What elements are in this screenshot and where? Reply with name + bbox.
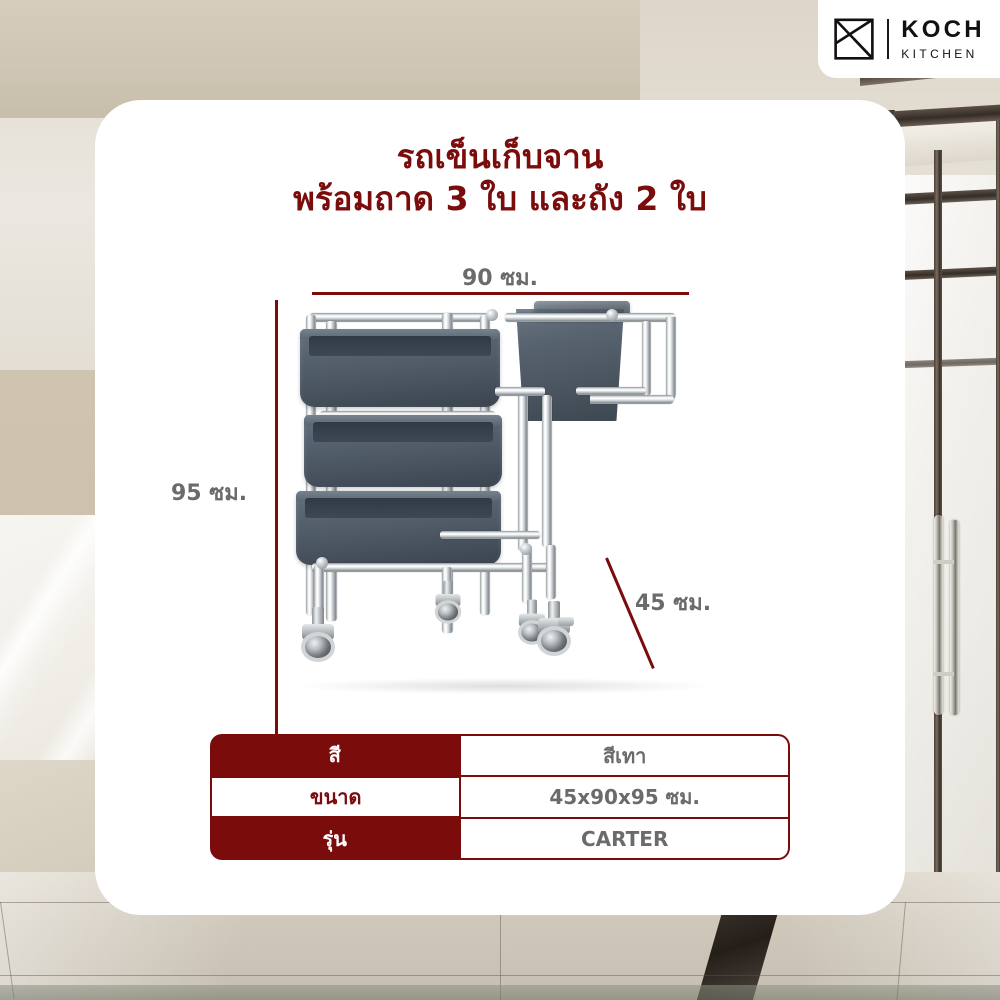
spec-key-model: รุ่น (210, 818, 459, 860)
door-mullion-3 (996, 120, 1000, 875)
table-row: ขนาด 45x90x95 ซม. (210, 776, 790, 818)
specification-table: สี สีเทา ขนาด 45x90x95 ซม. รุ่น CARTER (210, 734, 790, 860)
product-info-card: รถเข็นเก็บจาน พร้อมถาด 3 ใบ และถัง 2 ใบ … (95, 100, 905, 915)
table-row: สี สีเทา (210, 734, 790, 776)
tray-middle (304, 415, 502, 487)
door-handle-right (950, 520, 959, 715)
spec-key-color: สี (210, 734, 459, 776)
frame-joint (520, 543, 532, 555)
caster-brake-lever (558, 617, 574, 626)
logo-divider (887, 19, 889, 59)
brand-logo-badge: KOCH KITCHEN (818, 0, 1000, 78)
table-row: รุ่น CARTER (210, 818, 790, 860)
product-title-line-1: รถเข็นเก็บจาน (95, 136, 905, 178)
handle-riser-left (518, 391, 528, 551)
dimension-height-label: 95 ซม. (171, 475, 247, 510)
brand-name-primary: KOCH (901, 18, 984, 42)
floor-baseboard (0, 985, 1000, 1000)
spec-value-size: 45x90x95 ซม. (459, 776, 790, 818)
caster-front-left (298, 607, 338, 659)
handle-riser-right (542, 395, 552, 547)
caster-front-right (534, 601, 574, 653)
handle-elbow-rail (495, 387, 545, 396)
spec-value-color: สีเทา (459, 734, 790, 776)
koch-k-monogram-icon (833, 17, 875, 61)
leg-rear-right (546, 545, 556, 599)
caster-wheel (537, 626, 571, 656)
brand-wordmark: KOCH KITCHEN (901, 18, 984, 60)
product-title-line-2: พร้อมถาด 3 ใบ และถัง 2 ใบ (95, 178, 905, 220)
tray-bottom (296, 491, 501, 565)
brand-name-secondary: KITCHEN (901, 48, 984, 60)
spec-key-size: ขนาด (210, 776, 459, 818)
tray-top (300, 329, 500, 407)
bucket-cradle-inner-rail (576, 387, 646, 395)
tray-interior (309, 336, 491, 356)
bucket-cradle-right-post (666, 317, 676, 403)
leg-front-left (314, 565, 324, 613)
caster-rear-left (432, 581, 463, 622)
frame-joint (606, 309, 618, 321)
product-title: รถเข็นเก็บจาน พร้อมถาด 3 ใบ และถัง 2 ใบ (95, 136, 905, 220)
door-handle-left (934, 515, 943, 715)
frame-joint (486, 309, 498, 321)
door-handle-cap-bottom (934, 672, 954, 676)
bucket-cradle-bottom-rail (590, 395, 674, 404)
tray-interior (305, 498, 492, 518)
door-mullion-2 (934, 150, 942, 875)
frame-top-rail-rear (310, 313, 490, 322)
product-image-trolley (290, 295, 730, 685)
frame-base-rail (312, 563, 552, 572)
bucket-cradle-inner-post (642, 321, 651, 395)
caster-wheel (435, 600, 462, 623)
frame-joint (316, 557, 328, 569)
dimension-width-label: 90 ซม. (95, 260, 905, 295)
frame-lower-connector (440, 531, 540, 539)
dimension-height-line (275, 300, 278, 762)
caster-wheel (301, 632, 335, 662)
tray-interior (313, 422, 493, 442)
bucket-primary (516, 309, 624, 421)
door-handle-cap-top (934, 560, 954, 564)
spec-value-model: CARTER (459, 818, 790, 860)
